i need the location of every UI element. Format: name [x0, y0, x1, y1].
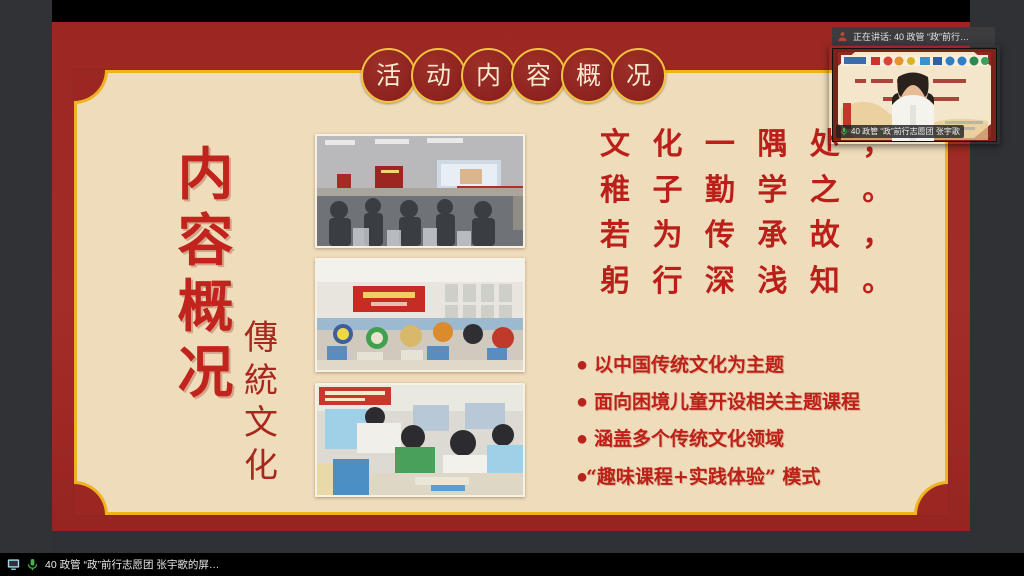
screen-share-icon	[7, 558, 20, 571]
list-item: ● 涵盖多个传统文化领域	[576, 428, 970, 451]
slide-poem: 文 化 一 隅 处 ， 稚 子 勤 学 之 。 若 为 传 承 故 ， 躬 行 …	[600, 122, 900, 304]
participant-name-tag: 40 政管 “政”前行志愿团 张宇歌	[836, 125, 964, 138]
zoom-meeting-window: 活 动 内 容 概 况 内容概况 傳統文化	[0, 0, 1024, 576]
shared-screen-slide[interactable]: 活 动 内 容 概 况 内容概况 傳統文化	[52, 22, 970, 531]
slide-bullet-list: ● 以中国传统文化为主题 ● 面向困境儿童开设相关主题课程 ● 涵盖多个传统文化…	[576, 354, 970, 499]
left-letterbox	[0, 0, 52, 553]
vertical-subheadline: 傳統文化	[237, 317, 285, 487]
bullet-text: “趣味课程+实践体验” 模式	[586, 466, 820, 489]
bullet-dot-icon: ●	[576, 391, 594, 413]
lecture-photo-graphic	[317, 136, 523, 246]
speaking-person-icon	[837, 31, 848, 42]
poem-line: 稚 子 勤 学 之 。	[600, 168, 900, 214]
bullet-dot-icon: ●	[576, 428, 594, 450]
list-item: ● 以中国传统文化为主题	[576, 354, 970, 377]
craft-photo-graphic	[317, 385, 523, 495]
bullet-text: 以中国传统文化为主题	[594, 354, 784, 377]
poem-line: 躬 行 深 浅 知 。	[600, 259, 900, 305]
microphone-icon	[26, 558, 39, 571]
slide-photo-lecture	[315, 134, 525, 248]
screen-share-label: 40 政管 “政”前行志愿团 张宇歌的屏…	[45, 557, 219, 572]
title-badge: 内	[461, 48, 516, 103]
mask-photo-graphic	[317, 260, 523, 370]
active-speaker-label: 正在讲话: 40 政管 “政”前行…	[853, 30, 969, 43]
bullet-text: 面向困境儿童开设相关主题课程	[594, 391, 860, 414]
title-badge: 容	[511, 48, 566, 103]
bullet-dot-icon: ●	[576, 466, 586, 488]
title-badge: 活	[361, 48, 416, 103]
title-badge: 概	[561, 48, 616, 103]
corner-ornament-bottom-left	[74, 481, 108, 515]
list-item: ● “趣味课程+实践体验” 模式	[576, 466, 970, 489]
list-item: ● 面向困境儿童开设相关主题课程	[576, 391, 970, 414]
bullet-dot-icon: ●	[576, 354, 594, 376]
microphone-icon	[840, 127, 848, 136]
active-speaker-bar[interactable]: 正在讲话: 40 政管 “政”前行…	[832, 27, 995, 46]
screen-share-status-bar[interactable]: 40 政管 “政”前行志愿团 张宇歌的屏…	[0, 553, 1024, 576]
slide-photo-craft	[315, 383, 525, 497]
top-letterbox	[52, 0, 970, 22]
bullet-text: 涵盖多个传统文化领域	[594, 428, 784, 451]
title-badge: 动	[411, 48, 466, 103]
slide-title: 活 动 内 容 概 况	[52, 48, 970, 103]
slide-photo-masks	[315, 258, 525, 372]
poem-line: 若 为 传 承 故 ，	[600, 213, 900, 259]
vertical-headline: 内容概况	[164, 142, 248, 406]
title-badge: 况	[611, 48, 666, 103]
participant-name: 40 政管 “政”前行志愿团 张宇歌	[851, 126, 960, 137]
